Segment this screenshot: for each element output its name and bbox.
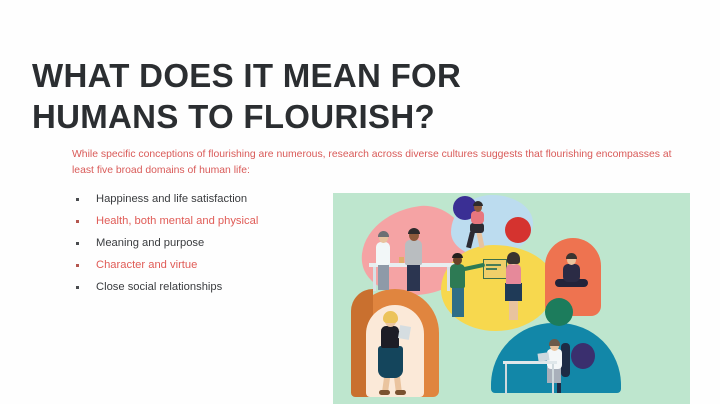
list-item-label: Close social relationships [96,281,222,293]
list-item-label: Health, both mental and physical [96,215,258,227]
figure-counter-right-hair [408,228,420,234]
meditating-figure-hair [566,253,577,259]
listener-hair [507,252,520,264]
listener-body [506,264,521,284]
counter-leg-left-shape [373,267,376,291]
office-chair-shape [561,343,570,377]
jogger-hair [473,201,483,206]
bullet-marker-icon [76,264,79,267]
figure-counter-right-body [405,240,422,265]
bullet-marker-icon [76,286,79,289]
jogger-shorts [470,223,484,233]
people-wellbeing-illustration [333,193,690,404]
walking-woman-shoe-front [379,390,390,395]
laptop-icon [537,352,549,361]
page-title-line-1: What does it mean for [32,56,502,97]
desk-leg-right-shape [552,364,554,394]
walking-woman-hair [383,311,398,323]
desk-leg-left-shape [505,364,507,394]
bullet-marker-icon [76,198,79,201]
figure-counter-left-body [376,242,390,265]
figure-counter-right-legs [407,264,420,291]
presentation-slide: What does it mean for Humans to flourish… [0,0,720,404]
jogger-top [471,211,484,224]
desk-worker-legs [547,367,561,383]
intro-paragraph: While specific conceptions of flourishin… [72,147,684,179]
list-item: Close social relationships [72,276,322,298]
list-item-label: Meaning and purpose [96,237,204,249]
list-item-label: Character and virtue [96,259,197,271]
page-title-line-2: Humans to flourish? [32,97,502,138]
presenter-legs [452,287,464,317]
bullet-marker-icon [76,242,79,245]
tablet-icon [398,325,411,340]
bullet-marker-icon [76,220,79,223]
navy-circle-shape [571,343,595,369]
walking-woman-skirt [378,346,403,378]
page-title: What does it mean for Humans to flourish… [32,56,502,138]
board-text-line-2 [486,268,497,270]
walking-woman-top [381,326,399,348]
listener-legs [509,300,518,320]
figure-counter-left-hair [378,231,389,237]
meditating-figure-body [563,264,580,282]
board-text-line-1 [486,264,501,266]
red-circle-shape [505,217,531,243]
coffee-cup-shape [399,257,404,263]
list-item: Meaning and purpose [72,232,322,254]
list-item: Happiness and life satisfaction [72,188,322,210]
presenter-hair [452,253,463,258]
list-item-label: Happiness and life satisfaction [96,193,247,205]
list-item: Character and virtue [72,254,322,276]
listener-skirt [505,283,522,301]
walking-woman-shoe-back [395,390,406,395]
figure-counter-left-legs [378,264,389,290]
desk-worker-hair [549,339,560,346]
green-circle-shape [545,298,573,326]
flourishing-domains-list: Happiness and life satisfaction Health, … [72,188,322,298]
list-item: Health, both mental and physical [72,210,322,232]
desk-surface-shape [503,361,557,364]
